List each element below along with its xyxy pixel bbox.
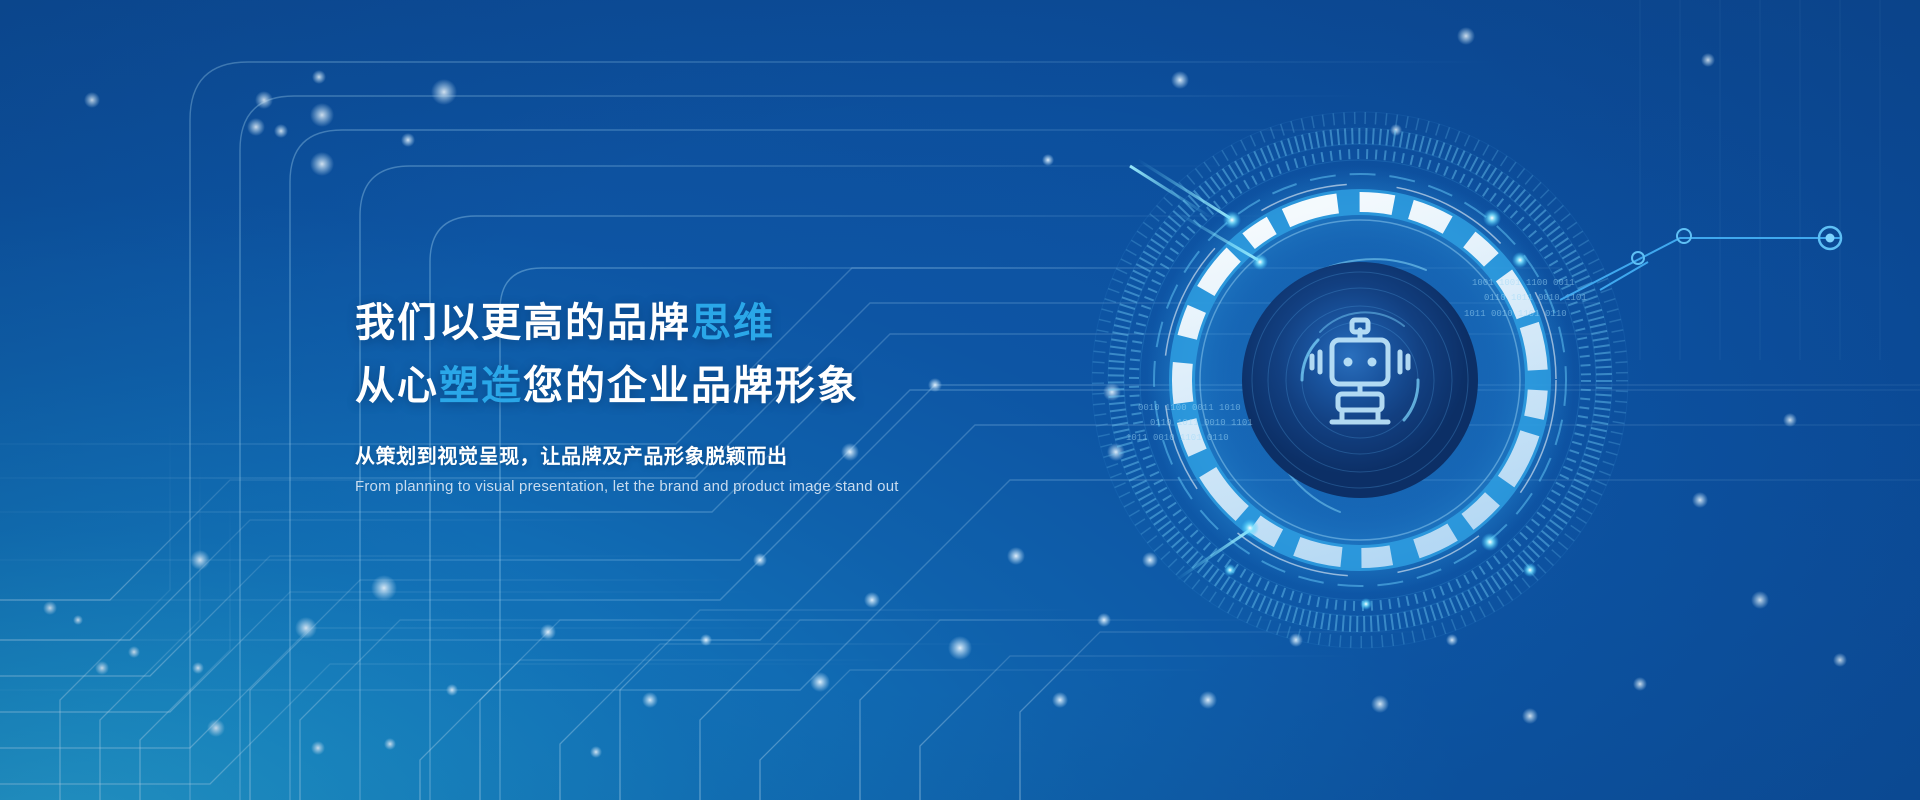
headline-line2-accent: 塑造 xyxy=(439,364,523,408)
headline-line1-text: 我们以更高的品牌 xyxy=(355,301,691,345)
headline-line2-text-b: 您的企业品牌形象 xyxy=(523,364,859,408)
headline-line1-accent: 思维 xyxy=(691,301,775,345)
hero-banner: 1001 1001 1100 0011 0110 1011 0010 1101 … xyxy=(0,0,1920,800)
hero-copy: 我们以更高的品牌思维 从心塑造您的企业品牌形象 从策划到视觉呈现，让品牌及产品形… xyxy=(355,300,1195,495)
subtitle-english: From planning to visual presentation, le… xyxy=(355,478,1195,495)
headline-line-2: 从心塑造您的企业品牌形象 xyxy=(355,363,1195,410)
headline-line-1: 我们以更高的品牌思维 xyxy=(355,300,1195,347)
subtitle-chinese: 从策划到视觉呈现，让品牌及产品形象脱颖而出 xyxy=(355,440,1195,469)
headline-line2-text-a: 从心 xyxy=(355,364,439,408)
connector-trace xyxy=(1560,238,1840,300)
